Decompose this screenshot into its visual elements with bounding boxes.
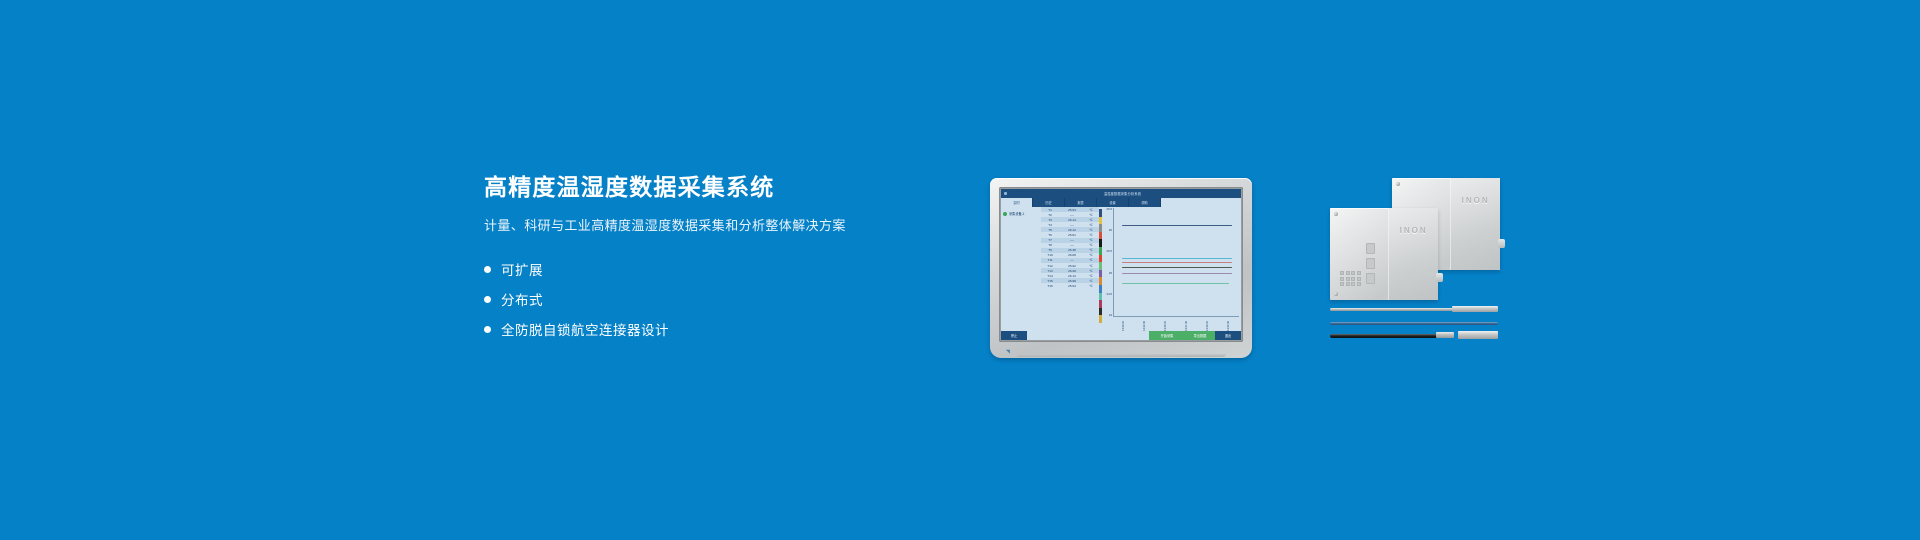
list-item: 分布式 (484, 284, 954, 314)
cell-val: 26.28 (1059, 269, 1085, 273)
screw-icon (1396, 182, 1400, 186)
tab-realtime[interactable]: 实时 (1001, 198, 1033, 207)
legend-swatch (1099, 239, 1102, 247)
cell-unit: ℃ (1085, 264, 1097, 268)
legend-swatch (1099, 209, 1102, 217)
tab-settings[interactable]: 设置 (1097, 198, 1129, 207)
trend-chart: 26.52625.52524.524 14:20:1014:22:4014:25… (1103, 207, 1241, 331)
start-acquisition-button[interactable]: 开始采集 (1149, 331, 1185, 340)
cell-unit: ℃ (1085, 238, 1097, 242)
cell-id: T2 (1041, 213, 1059, 217)
port-cell (1351, 271, 1355, 275)
port-cell (1346, 282, 1350, 286)
cell-id: T5 (1041, 228, 1059, 232)
bullet-icon (484, 326, 491, 333)
device-label: 采集设备-1 (1009, 211, 1025, 216)
cell-unit: ℃ (1085, 233, 1097, 237)
cell-unit: ℃ (1085, 228, 1097, 232)
cell-unit: ℃ (1085, 218, 1097, 222)
tab-history[interactable]: 历史 (1033, 198, 1065, 207)
port-cell (1357, 282, 1361, 286)
port-cell (1340, 277, 1344, 281)
table-row[interactable]: T1625.94℃ (1041, 283, 1099, 288)
cell-val: ---- (1059, 223, 1085, 227)
cell-unit: ℃ (1085, 243, 1097, 247)
cell-id: T13 (1041, 269, 1059, 273)
feature-label: 全防脱自锁航空连接器设计 (501, 319, 669, 339)
cell-unit: ℃ (1085, 274, 1097, 278)
legend-swatch (1099, 262, 1102, 270)
y-axis-tick: 26.5 (1103, 207, 1112, 211)
cell-val: ---- (1059, 258, 1085, 262)
table-row[interactable]: T125.93℃ (1041, 207, 1099, 212)
cell-unit: ℃ (1085, 208, 1097, 212)
cell-unit: ℃ (1085, 284, 1097, 288)
legend-swatch (1099, 247, 1102, 255)
trend-line-T6 (1122, 262, 1232, 263)
cell-id: T8 (1041, 243, 1059, 247)
cell-val: 26.13 (1059, 274, 1085, 278)
cell-val: 26.98 (1059, 279, 1085, 283)
x-axis-tick: 14:30:10 (1206, 317, 1209, 331)
brand-logo: INON (1462, 196, 1490, 205)
cell-id: T11 (1041, 258, 1059, 262)
legend-swatch (1099, 293, 1102, 301)
bullet-icon (484, 266, 491, 273)
port-cell (1351, 277, 1355, 281)
cell-id: T3 (1041, 218, 1059, 222)
app-tab-bar: 实时 历史 报表 设置 帮助 (1001, 198, 1241, 207)
table-row[interactable]: T11----℃ (1041, 258, 1099, 263)
table-row[interactable]: T1426.13℃ (1041, 273, 1099, 278)
legend-swatch (1099, 277, 1102, 285)
port-cell (1357, 277, 1361, 281)
connector-port-icon (1436, 273, 1443, 282)
page-subtitle: 计量、科研与工业高精度温湿度数据采集和分析整体解决方案 (484, 216, 954, 236)
connector-port-icon (1498, 239, 1505, 248)
list-item: 可扩展 (484, 254, 954, 284)
cell-val: 26.38 (1059, 248, 1085, 252)
panel-pc-product-image: 温湿度数据采集分析系统 实时 历史 报表 设置 帮助 (990, 178, 1252, 358)
tab-bar-filler (1161, 198, 1241, 207)
table-row[interactable]: T625.61℃ (1041, 232, 1099, 237)
cell-val: 26.12 (1059, 228, 1085, 232)
table-row[interactable]: T8----℃ (1041, 243, 1099, 248)
cell-unit: ℃ (1085, 279, 1097, 283)
legend-swatch (1099, 270, 1102, 278)
port-cell (1340, 271, 1344, 275)
cell-val: ---- (1059, 238, 1085, 242)
monitor-brand-logo: ◥ (1006, 350, 1014, 355)
tab-report[interactable]: 报表 (1065, 198, 1097, 207)
cell-val: 25.94 (1059, 284, 1085, 288)
cell-id: T10 (1041, 253, 1059, 257)
port-cell (1346, 271, 1350, 275)
cell-id: T16 (1041, 284, 1059, 288)
trend-line-T12 (1122, 273, 1232, 274)
screw-icon (1334, 212, 1338, 216)
x-axis-tick: 14:22:40 (1143, 317, 1146, 331)
cell-val: 25.92 (1059, 264, 1085, 268)
table-row[interactable]: T1526.98℃ (1041, 278, 1099, 283)
screw-icon (1334, 292, 1338, 296)
device-tree-panel: 采集设备-1 (1001, 207, 1041, 331)
probe-tip (1452, 306, 1498, 312)
legend-swatch (1099, 217, 1102, 225)
device-tree-node[interactable]: 采集设备-1 (1003, 211, 1039, 216)
trend-line-T9 (1122, 267, 1232, 268)
port-slot (1366, 273, 1375, 284)
port-slot (1366, 243, 1375, 254)
table-row[interactable]: T1225.92℃ (1041, 263, 1099, 268)
chart-y-axis: 26.52625.52524.524 (1103, 207, 1112, 317)
trend-line-T1 (1122, 225, 1232, 226)
cell-unit: ℃ (1085, 213, 1097, 217)
cell-unit: ℃ (1085, 269, 1097, 273)
cell-id: T7 (1041, 238, 1059, 242)
exit-button[interactable]: 退出 (1215, 331, 1241, 340)
cell-unit: ℃ (1085, 253, 1097, 257)
legend-swatch (1099, 300, 1102, 308)
cell-val: 25.61 (1059, 233, 1085, 237)
probe-tip (1458, 331, 1498, 339)
x-axis-tick: 14:27:40 (1185, 317, 1188, 331)
legend-swatch (1099, 285, 1102, 293)
port-cell (1351, 282, 1355, 286)
table-row[interactable]: T326.14℃ (1041, 217, 1099, 222)
y-axis-tick: 25 (1103, 271, 1112, 275)
app-title-bar: 温湿度数据采集分析系统 (1001, 189, 1241, 198)
product-banner: 高精度温湿度数据采集系统 计量、科研与工业高精度温湿度数据采集和分析整体解决方案… (0, 0, 1920, 540)
table-row[interactable]: T1026.08℃ (1041, 253, 1099, 258)
x-axis-tick: 14:32:40 (1227, 317, 1230, 331)
chart-plot-area (1113, 208, 1239, 317)
legend-swatch (1099, 315, 1102, 323)
module-lid: INON (1450, 178, 1500, 270)
x-axis-tick: 14:25:10 (1164, 317, 1167, 331)
trend-line-T16 (1122, 283, 1230, 284)
monitor-foot (1016, 354, 1226, 357)
channel-table: T125.93℃T2----℃T326.14℃T4----℃T526.12℃T6… (1041, 207, 1099, 331)
x-axis-tick: 14:20:10 (1122, 317, 1125, 331)
cell-id: T4 (1041, 223, 1059, 227)
probe-ferrule (1436, 332, 1454, 338)
app-status-bar: 停止 开始采集 导出数据 退出 (1001, 331, 1241, 340)
legend-swatch (1099, 308, 1102, 316)
brand-logo: INON (1400, 226, 1428, 235)
series-color-legend (1099, 209, 1102, 323)
table-row[interactable]: T4----℃ (1041, 222, 1099, 227)
module-lid: INON (1388, 208, 1438, 300)
app-title: 温湿度数据采集分析系统 (1007, 191, 1238, 196)
cell-id: T6 (1041, 233, 1059, 237)
bullet-icon (484, 296, 491, 303)
probe-cable (1330, 322, 1498, 325)
chart-x-axis: 14:20:1014:22:4014:25:1014:27:4014:30:10… (1113, 317, 1239, 331)
legend-swatch (1099, 224, 1102, 232)
app-body: 采集设备-1 T125.93℃T2----℃T326.14℃T4----℃T52… (1001, 207, 1241, 331)
list-item: 全防脱自锁航空连接器设计 (484, 314, 954, 344)
y-axis-tick: 24.5 (1103, 292, 1112, 296)
cell-val: ---- (1059, 213, 1085, 217)
monitor-bezel: 温湿度数据采集分析系统 实时 历史 报表 设置 帮助 (990, 178, 1252, 358)
cell-id: T14 (1041, 274, 1059, 278)
stop-button[interactable]: 停止 (1001, 331, 1027, 340)
banner-copy-block: 高精度温湿度数据采集系统 计量、科研与工业高精度温湿度数据采集和分析整体解决方案… (484, 172, 954, 344)
table-row[interactable]: T2----℃ (1041, 212, 1099, 217)
y-axis-tick: 26 (1103, 228, 1112, 232)
table-row[interactable]: T526.12℃ (1041, 227, 1099, 232)
table-row[interactable]: T7----℃ (1041, 238, 1099, 243)
feature-label: 可扩展 (501, 259, 543, 279)
cell-unit: ℃ (1085, 248, 1097, 252)
feature-list: 可扩展 分布式 全防脱自锁航空连接器设计 (484, 254, 954, 344)
port-grid (1340, 271, 1361, 286)
acquisition-module-front: INON (1330, 208, 1438, 300)
hardware-product-images: INON INON (1330, 178, 1500, 358)
trend-line-T5 (1122, 258, 1232, 259)
page-title: 高精度温湿度数据采集系统 (484, 172, 954, 202)
cell-val: 26.08 (1059, 253, 1085, 257)
port-slot-group (1366, 243, 1375, 288)
legend-swatch (1099, 232, 1102, 240)
export-data-button[interactable]: 导出数据 (1185, 331, 1215, 340)
cell-id: T15 (1041, 279, 1059, 283)
cell-unit: ℃ (1085, 223, 1097, 227)
cell-val: ---- (1059, 243, 1085, 247)
y-axis-tick: 25.5 (1103, 249, 1112, 253)
probe-cable (1330, 334, 1438, 338)
legend-swatch (1099, 255, 1102, 263)
cell-val: 26.14 (1059, 218, 1085, 222)
cell-unit: ℃ (1085, 258, 1097, 262)
monitor-inner-frame: 温湿度数据采集分析系统 实时 历史 报表 设置 帮助 (999, 187, 1243, 342)
monitor-screen: 温湿度数据采集分析系统 实时 历史 报表 设置 帮助 (1001, 189, 1241, 340)
table-row[interactable]: T1326.28℃ (1041, 268, 1099, 273)
y-axis-tick: 24 (1103, 313, 1112, 317)
cell-id: T12 (1041, 264, 1059, 268)
feature-label: 分布式 (501, 289, 543, 309)
port-cell (1357, 271, 1361, 275)
table-row[interactable]: T926.38℃ (1041, 248, 1099, 253)
port-cell (1346, 277, 1350, 281)
status-indicator-icon (1003, 212, 1007, 216)
port-cell (1340, 282, 1344, 286)
cell-val: 25.93 (1059, 208, 1085, 212)
status-bar-gap (1027, 331, 1149, 340)
port-slot (1366, 258, 1375, 269)
cell-id: T9 (1041, 248, 1059, 252)
tab-help[interactable]: 帮助 (1129, 198, 1161, 207)
cell-id: T1 (1041, 208, 1059, 212)
